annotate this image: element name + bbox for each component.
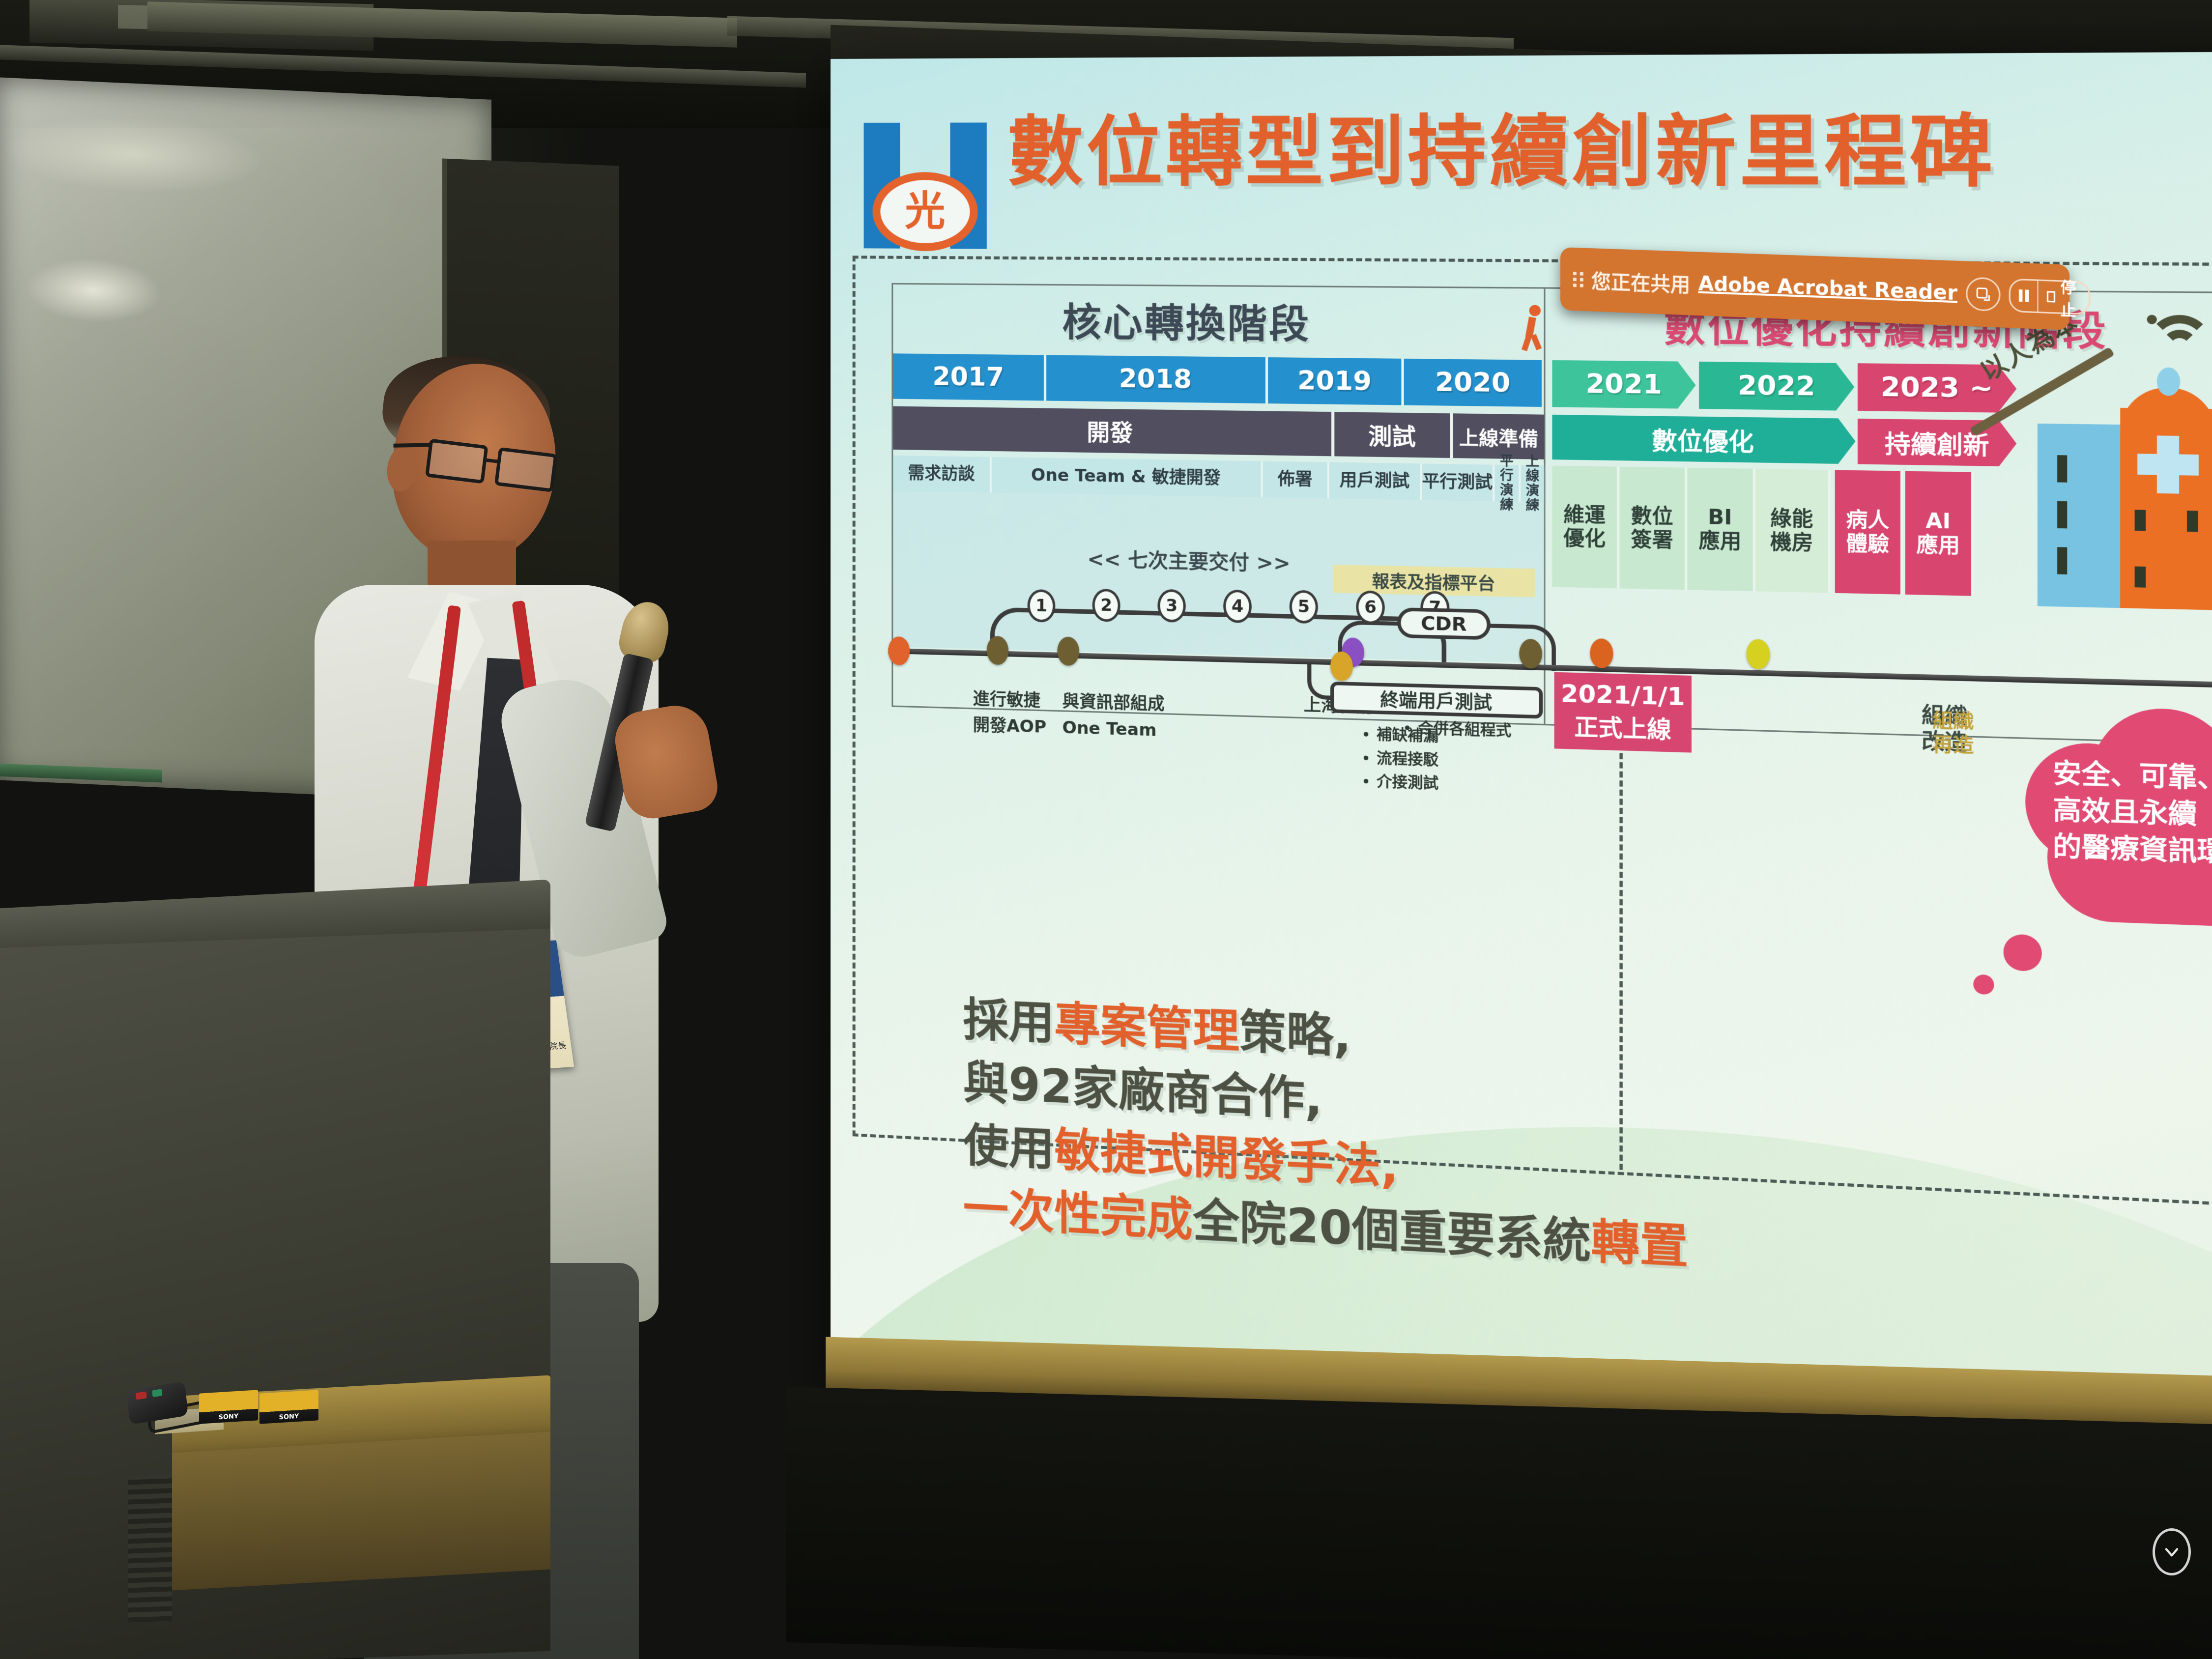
vision-cloud: 安全、可靠、友善 高效且永續 的醫療資訊環境	[2025, 705, 2212, 935]
delivery-count-label: << 七次主要交付 >>	[1087, 543, 1290, 576]
stop-square-icon	[2047, 291, 2055, 303]
task-one-team-agile: One Team & 敏捷開發	[992, 457, 1263, 497]
timeline-dot-cdr	[1330, 651, 1353, 681]
enduser-test-pill: 終端用戶測試	[1330, 682, 1543, 719]
task-parallel-testing: 平行測試	[1422, 464, 1495, 502]
lectern-vent	[128, 1473, 172, 1622]
task-parallel-drill: 平行 演練	[1494, 465, 1521, 502]
item-ops-optimization: 維運 優化	[1552, 466, 1619, 589]
delivery-number-4: 4	[1223, 589, 1252, 623]
org-rebuild-label: 組織 再造	[1932, 709, 1974, 757]
statement-highlight: 專案管理	[1054, 997, 1239, 1058]
statement-highlight: 一次性完成	[963, 1181, 1193, 1247]
year-cell-2020: 2020	[1404, 359, 1542, 407]
delivery-number-1: 1	[1028, 589, 1056, 623]
delivery-number-6: 6	[1356, 590, 1385, 624]
phase-band-golive-prep: 上線準備	[1453, 413, 1545, 459]
slide-title: 數位轉型到持續創新里程碑	[1007, 110, 2212, 194]
golive-label: 正式上線	[1574, 708, 1671, 744]
cloud-tail	[1973, 974, 1994, 995]
task-user-testing: 用戶測試	[1329, 462, 1422, 500]
hospital-logo: 光	[864, 122, 987, 249]
timeline-dot-agile	[987, 636, 1008, 665]
timeline-dot-oneteam	[1057, 636, 1079, 666]
enduser-bullet: 介接測試	[1377, 770, 1438, 796]
statement-text: 採用	[963, 993, 1055, 1050]
battery-pack: SONY	[259, 1390, 318, 1424]
slide-statement: 採用專案管理策略, 與92家廠商合作, 使用敏捷式開發手法, 一次性完成全院20…	[963, 988, 1840, 1288]
milestone-label-oneteam: 與資訊部組成 One Team	[1063, 688, 1165, 744]
year-cell-2019: 2019	[1268, 357, 1404, 405]
integration-bullet: 合併各組程式	[1418, 716, 1511, 743]
year-cell-2017: 2017	[893, 353, 1046, 400]
golive-date: 2021/1/1	[1561, 680, 1685, 712]
battery-brand: SONY	[279, 1413, 299, 1421]
conference-room-scene: 光 數位轉型到持續創新里程碑 核心轉換階段 數位優化持續創新階段 2017 20…	[0, 0, 2212, 1659]
drag-handle-icon[interactable]	[1573, 271, 1583, 287]
phase-band-testing: 測試	[1334, 412, 1453, 458]
sharing-status-text: 您正在共用	[1591, 265, 1691, 298]
year-cell-2018: 2018	[1046, 355, 1268, 403]
statement-highlight: 敏捷式開發手法,	[1054, 1123, 1399, 1194]
hospital-building-icon	[2014, 361, 2212, 611]
annotate-icon[interactable]	[1966, 277, 2000, 312]
item-patient-experience: 病人 體驗	[1835, 470, 1903, 594]
task-golive-drill: 上線 演練	[1521, 465, 1545, 502]
statement-text: 策略,	[1239, 1005, 1351, 1064]
stop-share-button[interactable]: 停止	[2038, 281, 2088, 314]
vision-cloud-text: 安全、可靠、友善 高效且永續 的醫療資訊環境	[2053, 755, 2212, 874]
floor-shadow	[786, 1387, 2212, 1659]
golive-badge: 2021/1/1 正式上線	[1554, 672, 1692, 753]
item-ai-application: AI 應用	[1905, 471, 1974, 596]
task-deployment: 佈署	[1263, 461, 1329, 499]
enduser-bullet: 流程接駁	[1377, 746, 1438, 772]
lectern: SONY SONY	[0, 894, 550, 1659]
pause-icon[interactable]	[2011, 280, 2038, 312]
timeline-dot-golive	[1590, 638, 1613, 668]
runner-icon	[1520, 305, 1548, 351]
whiteboard-glare	[25, 256, 162, 326]
timeline-dot-integration	[1519, 639, 1542, 669]
delivery-number-2: 2	[1092, 589, 1120, 622]
statement-text: 使用	[963, 1118, 1055, 1176]
timeline-dot-start	[888, 636, 910, 665]
year-chevron-2022: 2022	[1699, 362, 1854, 411]
item-green-datacenter: 綠能 機房	[1755, 469, 1831, 593]
battery-pack: SONY	[199, 1390, 258, 1424]
delivery-number-3: 3	[1157, 589, 1185, 623]
core-phase-heading: 核心轉換階段	[1063, 291, 1311, 349]
lectern-shelf-side	[172, 1431, 550, 1590]
task-requirement-interview: 需求訪談	[893, 456, 992, 493]
item-bi-application: BI 應用	[1687, 468, 1755, 591]
battery-brand: SONY	[219, 1413, 239, 1421]
whiteboard-glare	[5, 112, 260, 198]
chevron-down-icon[interactable]	[2153, 1528, 2191, 1575]
item-digital-signature: 數位 簽署	[1619, 467, 1687, 590]
shared-app-name[interactable]: Adobe Acrobat Reader	[1698, 272, 1957, 305]
share-controls-group[interactable]: 停止	[2009, 278, 2090, 315]
timeline-dot-org	[1747, 639, 1770, 669]
statement-highlight: 轉置	[1591, 1214, 1689, 1274]
phase-band-development: 開發	[893, 406, 1334, 457]
year-row-left: 2017 2018 2019 2020	[893, 353, 1544, 407]
cdr-pill: CDR	[1397, 607, 1491, 640]
year-chevron-2021: 2021	[1552, 360, 1695, 409]
stop-label: 停止	[2060, 275, 2080, 320]
band-digital-optimization: 數位優化	[1552, 415, 1855, 464]
delivery-number-5: 5	[1290, 590, 1318, 624]
milestone-label-agile: 進行敏捷 開發AOP	[973, 686, 1047, 741]
logo-center-char: 光	[905, 191, 945, 232]
